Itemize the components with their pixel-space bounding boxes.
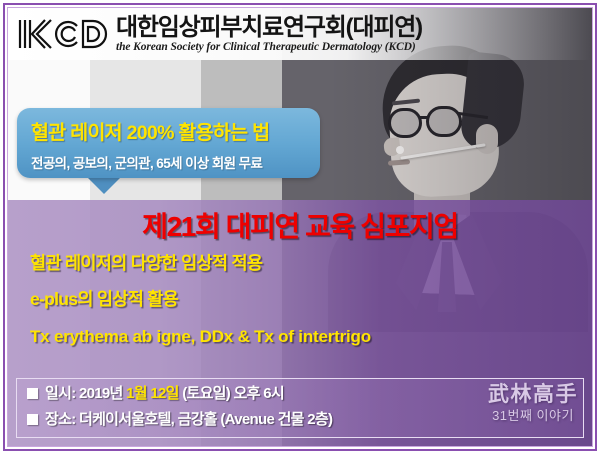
- date-prefix: 2019년: [79, 386, 123, 401]
- topic-item: Tx erythema ab igne, DDx & Tx of intertr…: [30, 328, 592, 345]
- date-label: 일시:: [45, 386, 76, 401]
- header-text: 대한임상피부치료연구회(대피연) the Korean Society for …: [116, 15, 422, 53]
- venue-value: 더케이서울호텔, 금강홀 (Avenue 건물 2층): [79, 412, 332, 427]
- panel-content: 제21회 대피연 교육 심포지엄 혈관 레이저의 다양한 임상적 적용 e-pl…: [8, 200, 592, 345]
- square-bullet-icon: [27, 388, 38, 399]
- header: 대한임상피부치료연구회(대피연) the Korean Society for …: [8, 8, 592, 60]
- venue-label: 장소:: [45, 412, 76, 427]
- topic-item: e-plus의 임상적 활용: [30, 291, 592, 309]
- date-highlight: 1월 12일: [126, 386, 179, 401]
- organization-name-en: the Korean Society for Clinical Therapeu…: [116, 41, 422, 53]
- callout-headline: 혈관 레이저 200% 활용하는 법: [31, 116, 310, 145]
- callout-subline: 전공의, 공보의, 군의관, 65세 이상 회원 무료: [31, 152, 310, 172]
- topic-item: 혈관 레이저의 다양한 임상적 적용: [30, 255, 592, 273]
- symposium-title: 제21회 대피연 교육 심포지엄: [8, 212, 592, 243]
- detail-row-venue: 장소: 더케이서울호텔, 금강홀 (Avenue 건물 2층): [27, 412, 583, 427]
- callout-tail: [86, 176, 122, 194]
- date-suffix: (토요일) 오후 6시: [182, 386, 284, 401]
- detail-row-date: 일시: 2019년 1월 12일 (토요일) 오후 6시: [27, 386, 583, 401]
- poster: 대한임상피부치료연구회(대피연) the Korean Society for …: [0, 0, 600, 454]
- callout-bubble: 혈관 레이저 200% 활용하는 법 전공의, 공보의, 군의관, 65세 이상…: [17, 108, 320, 178]
- organization-name-kr: 대한임상피부치료연구회(대피연): [116, 15, 422, 40]
- topic-list: 혈관 레이저의 다양한 임상적 적용 e-plus의 임상적 활용 Tx ery…: [8, 255, 592, 345]
- details-box: 일시: 2019년 1월 12일 (토요일) 오후 6시 장소: 더케이서울호텔…: [16, 378, 584, 438]
- kcd-logo-icon: [14, 14, 110, 54]
- square-bullet-icon: [27, 414, 38, 425]
